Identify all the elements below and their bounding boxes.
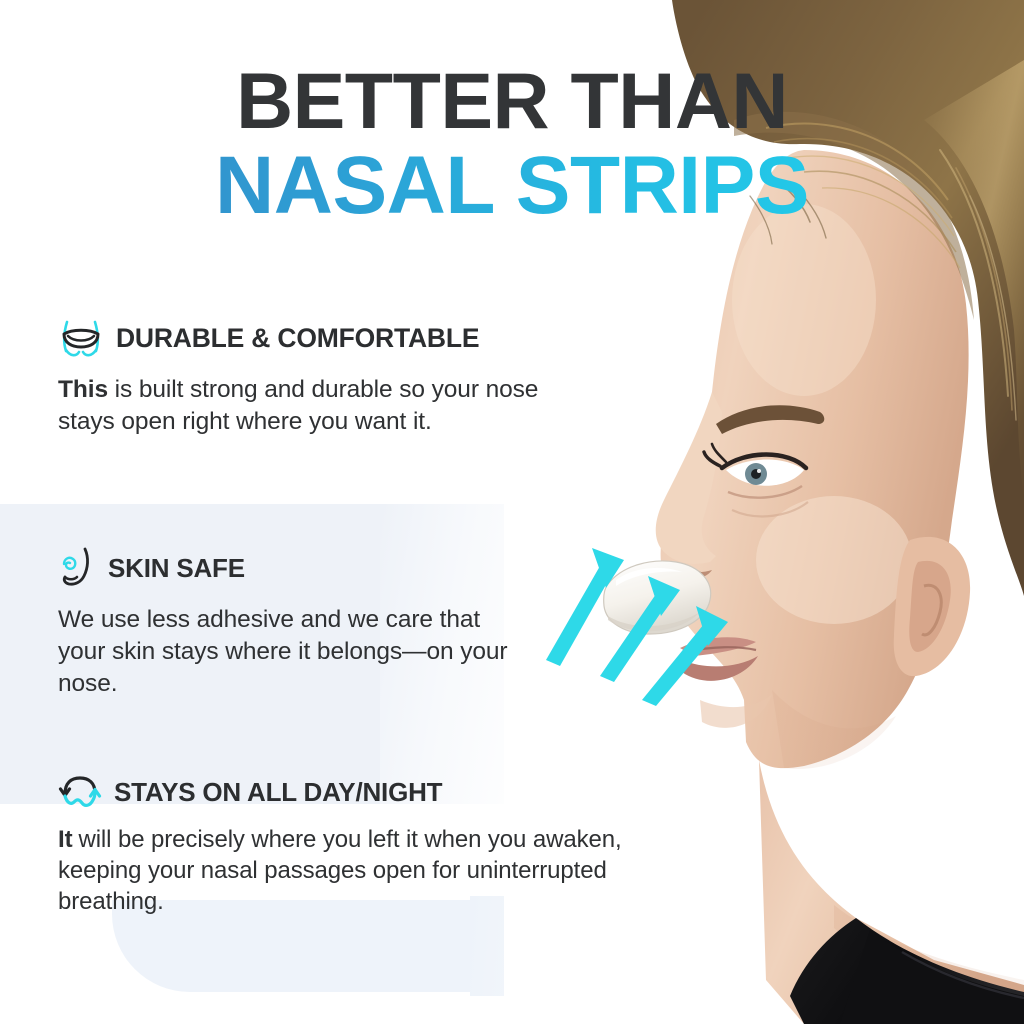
- feature-3-title: STAYS ON ALL DAY/NIGHT: [114, 777, 442, 808]
- day-night-cycle-icon: [58, 772, 102, 812]
- nose-dilator-front-icon: [58, 316, 104, 360]
- nose-profile-swirl-icon: [58, 546, 96, 590]
- feature-durable-comfortable: DURABLE & COMFORTABLE This is built stro…: [58, 316, 598, 438]
- feature-1-lead-word: This: [58, 376, 108, 403]
- feature-skin-safe: SKIN SAFE We use less adhesive and we ca…: [58, 546, 528, 700]
- feature-3-header: STAYS ON ALL DAY/NIGHT: [58, 772, 658, 812]
- feature-1-header: DURABLE & COMFORTABLE: [58, 316, 598, 360]
- feature-3-body: Itwill be precisely where you left it wh…: [58, 824, 658, 918]
- feature-2-header: SKIN SAFE: [58, 546, 528, 590]
- marketing-graphic: BETTER THAN NASAL STRIPS: [0, 0, 1024, 1024]
- feature-1-text: is built strong and durable so your nose…: [58, 376, 538, 435]
- feature-2-text: We use less adhesive and we care that yo…: [58, 606, 507, 697]
- feature-stays-on-all-day-night: STAYS ON ALL DAY/NIGHT Itwill be precise…: [58, 772, 658, 918]
- feature-2-title: SKIN SAFE: [108, 553, 245, 584]
- feature-3-lead-word: It: [58, 826, 72, 853]
- feature-2-body: We use less adhesive and we care that yo…: [58, 604, 528, 700]
- feature-3-text: will be precisely where you left it when…: [58, 826, 622, 915]
- feature-1-body: This is built strong and durable so your…: [58, 374, 598, 438]
- feature-1-title: DURABLE & COMFORTABLE: [116, 323, 479, 354]
